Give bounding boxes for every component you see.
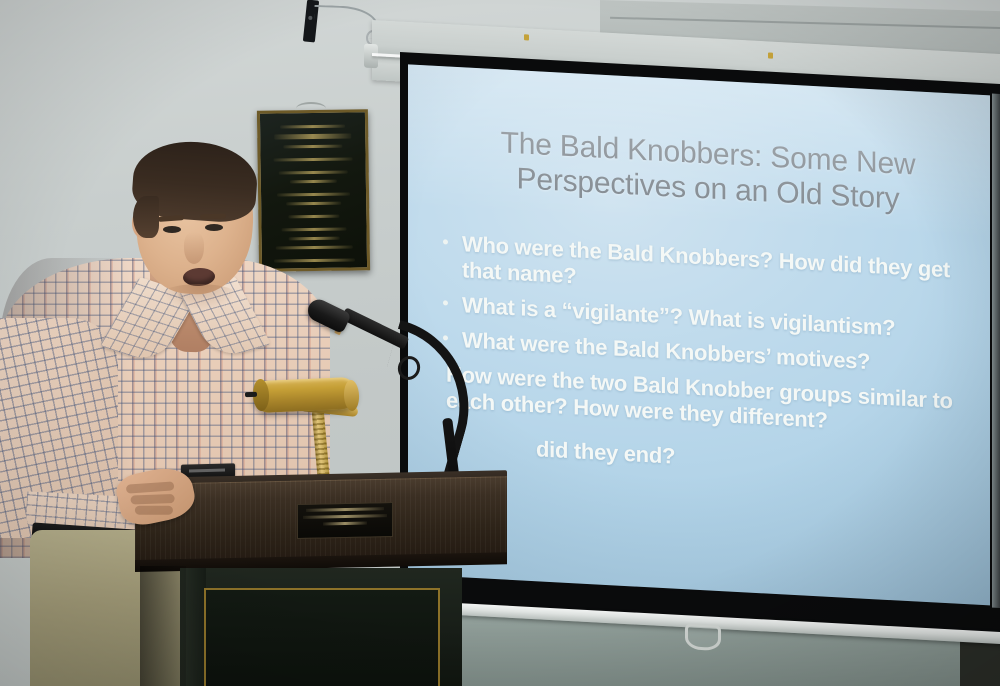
lamp-switch[interactable] xyxy=(245,392,257,398)
podium-base-panel xyxy=(204,588,440,686)
speaker-sideburn xyxy=(133,196,159,238)
podium-donor-plaque xyxy=(297,502,393,539)
speaker-eye-left xyxy=(163,226,181,233)
podium-left-shadow xyxy=(140,566,186,686)
presentation-photo: The Bald Knobbers: Some New Perspectives… xyxy=(0,0,1000,686)
speaker-chin-shadow xyxy=(158,284,240,310)
speaker-eyebrow-right xyxy=(200,214,226,220)
speaker-nose xyxy=(184,232,204,264)
speaker-eye-right xyxy=(205,224,223,231)
